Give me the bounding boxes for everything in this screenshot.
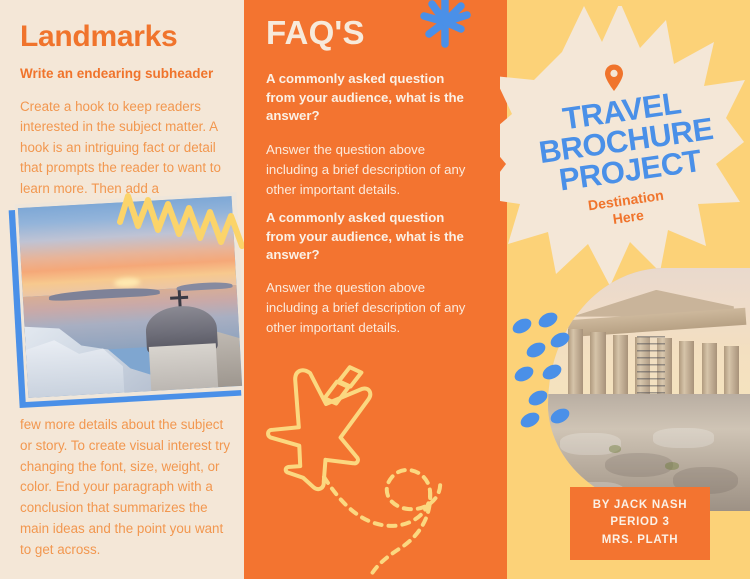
landmarks-title: Landmarks <box>20 20 235 53</box>
cover-photo-moss <box>665 462 679 469</box>
credit-line-1: BY JACK NASH <box>576 497 704 514</box>
photo-church-dome <box>130 288 234 392</box>
photo-cross-horizontal <box>170 296 188 300</box>
photo-dome-base <box>149 343 218 391</box>
faq-title: FAQ'S <box>266 14 365 52</box>
landmarks-subheader: Write an endearing subheader <box>20 66 235 83</box>
sparkle-icon <box>414 0 476 54</box>
faq-panel: FAQ'S A commonly asked question from you… <box>244 0 500 579</box>
brochure-page: Landmarks Write an endearing subheader C… <box>0 0 750 579</box>
cover-photo-rock <box>653 428 714 447</box>
credit-box: BY JACK NASH PERIOD 3 MRS. PLATH <box>570 487 710 560</box>
landmarks-panel: Landmarks Write an endearing subheader C… <box>0 0 244 579</box>
cover-panel: TRAVEL BROCHURE PROJECT Destination Here <box>500 0 750 579</box>
landmarks-body-top: Create a hook to keep readers interested… <box>20 97 232 199</box>
yellow-squiggle-icon <box>116 192 244 258</box>
location-pin-icon <box>603 64 625 92</box>
faq-question-2: A commonly asked question from your audi… <box>266 209 466 265</box>
faq-question-1: A commonly asked question from your audi… <box>266 70 466 126</box>
faq-answer-1: Answer the question above including a br… <box>266 140 466 199</box>
airplane-doodle-icon <box>264 355 500 579</box>
landmarks-body-bottom: few more details about the subject or st… <box>20 415 236 560</box>
faq-answer-2: Answer the question above including a br… <box>266 278 466 337</box>
landmark-photo-group <box>6 196 244 411</box>
blue-dots-icon <box>508 310 618 455</box>
cover-photo-rock <box>605 453 674 477</box>
credit-line-3: MRS. PLATH <box>576 532 704 549</box>
credit-line-2: PERIOD 3 <box>576 514 704 531</box>
